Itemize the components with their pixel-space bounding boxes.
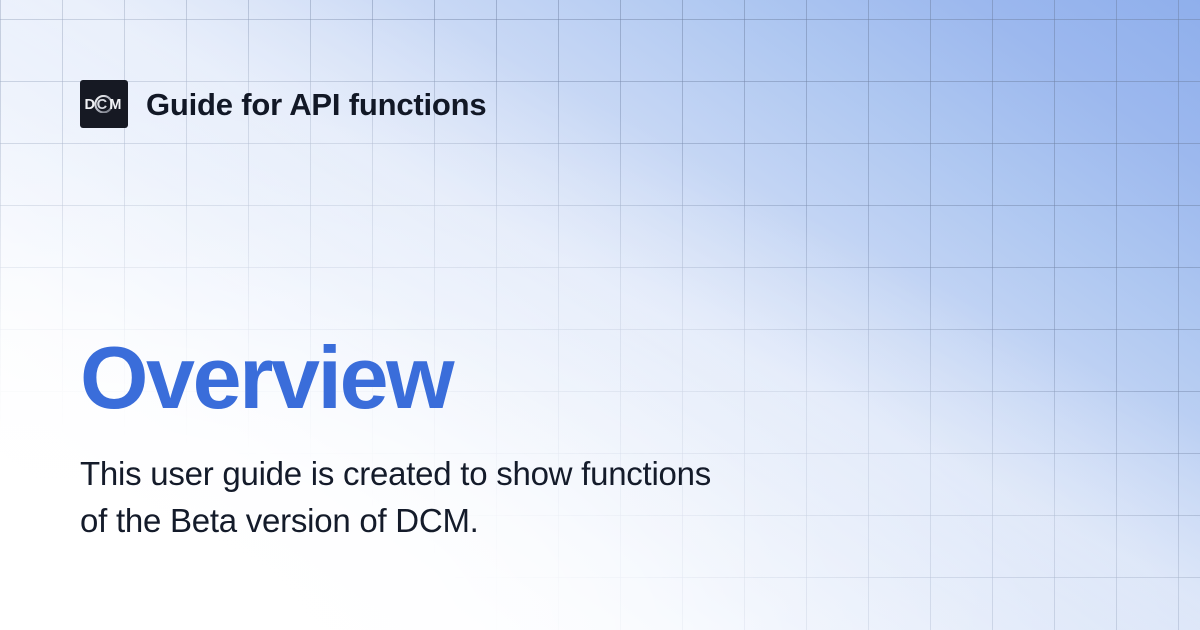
svg-text:M: M — [109, 97, 121, 113]
hero-block: Overview This user guide is created to s… — [80, 334, 980, 545]
hero-subtitle-line-1: This user guide is created to show funct… — [80, 451, 870, 498]
dcm-logo-icon: D C M — [80, 80, 128, 128]
svg-text:D: D — [85, 97, 96, 113]
og-card-canvas: D C M Guide for API functions Overview T… — [0, 0, 1200, 630]
hero-subtitle: This user guide is created to show funct… — [80, 422, 870, 545]
svg-text:C: C — [97, 97, 108, 113]
brand-header: D C M Guide for API functions — [80, 80, 486, 128]
hero-heading: Overview — [80, 334, 980, 422]
card-content: D C M Guide for API functions Overview T… — [0, 0, 1200, 630]
page-title: Guide for API functions — [146, 89, 486, 120]
hero-subtitle-line-2: of the Beta version of DCM. — [80, 498, 870, 545]
